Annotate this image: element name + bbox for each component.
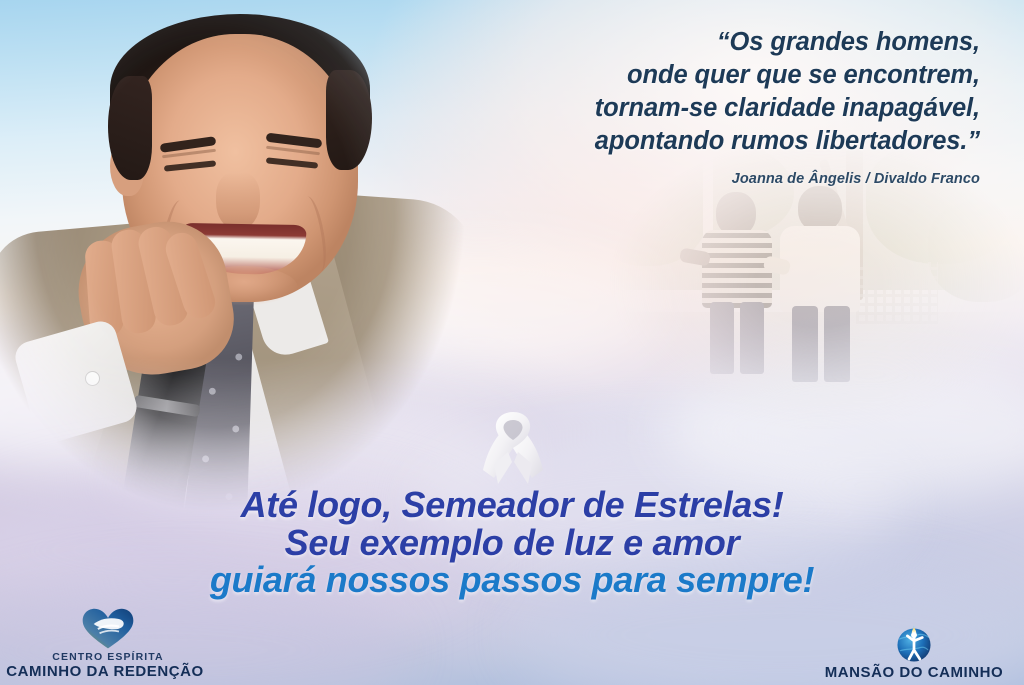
quote-line-3: tornam-se claridade inapagável, [420, 92, 980, 125]
photo-figure-youth [702, 192, 774, 372]
white-mourning-ribbon-icon [478, 408, 548, 490]
quote-block: “Os grandes homens, onde quer que se enc… [420, 26, 980, 187]
globe-figure-icon [808, 624, 1020, 664]
quote-line-2: onde quer que se encontrem, [420, 59, 980, 92]
faded-photo-two-people-walking [598, 150, 1024, 440]
photo-figure-elder [780, 186, 860, 374]
logo-mansao-do-caminho: MANSÃO DO CAMINHO [808, 624, 1020, 681]
logo-right-name: MANSÃO DO CAMINHO [808, 664, 1020, 681]
quote-line-4: apontando rumos libertadores.” [420, 125, 980, 158]
logo-left-line-1: CENTRO ESPÍRITA [2, 651, 214, 663]
memorial-poster: “Os grandes homens, onde quer que se enc… [0, 0, 1024, 685]
farewell-message: Até logo, Semeador de Estrelas! Seu exem… [0, 486, 1024, 599]
message-line-1: Até logo, Semeador de Estrelas! [0, 486, 1024, 524]
logo-left-line-2: CAMINHO DA REDENÇÃO [0, 663, 214, 681]
message-line-3: guiará nossos passos para sempre! [0, 561, 1024, 599]
quote-line-1: “Os grandes homens, [420, 26, 980, 59]
logo-centro-espirita-caminho-da-redencao: CENTRO ESPÍRITA CAMINHO DA REDENÇÃO [2, 611, 214, 681]
quote-author: Joanna de Ângelis / Divaldo Franco [420, 171, 980, 187]
heart-hands-icon [2, 611, 214, 651]
message-line-2: Seu exemplo de luz e amor [0, 524, 1024, 562]
